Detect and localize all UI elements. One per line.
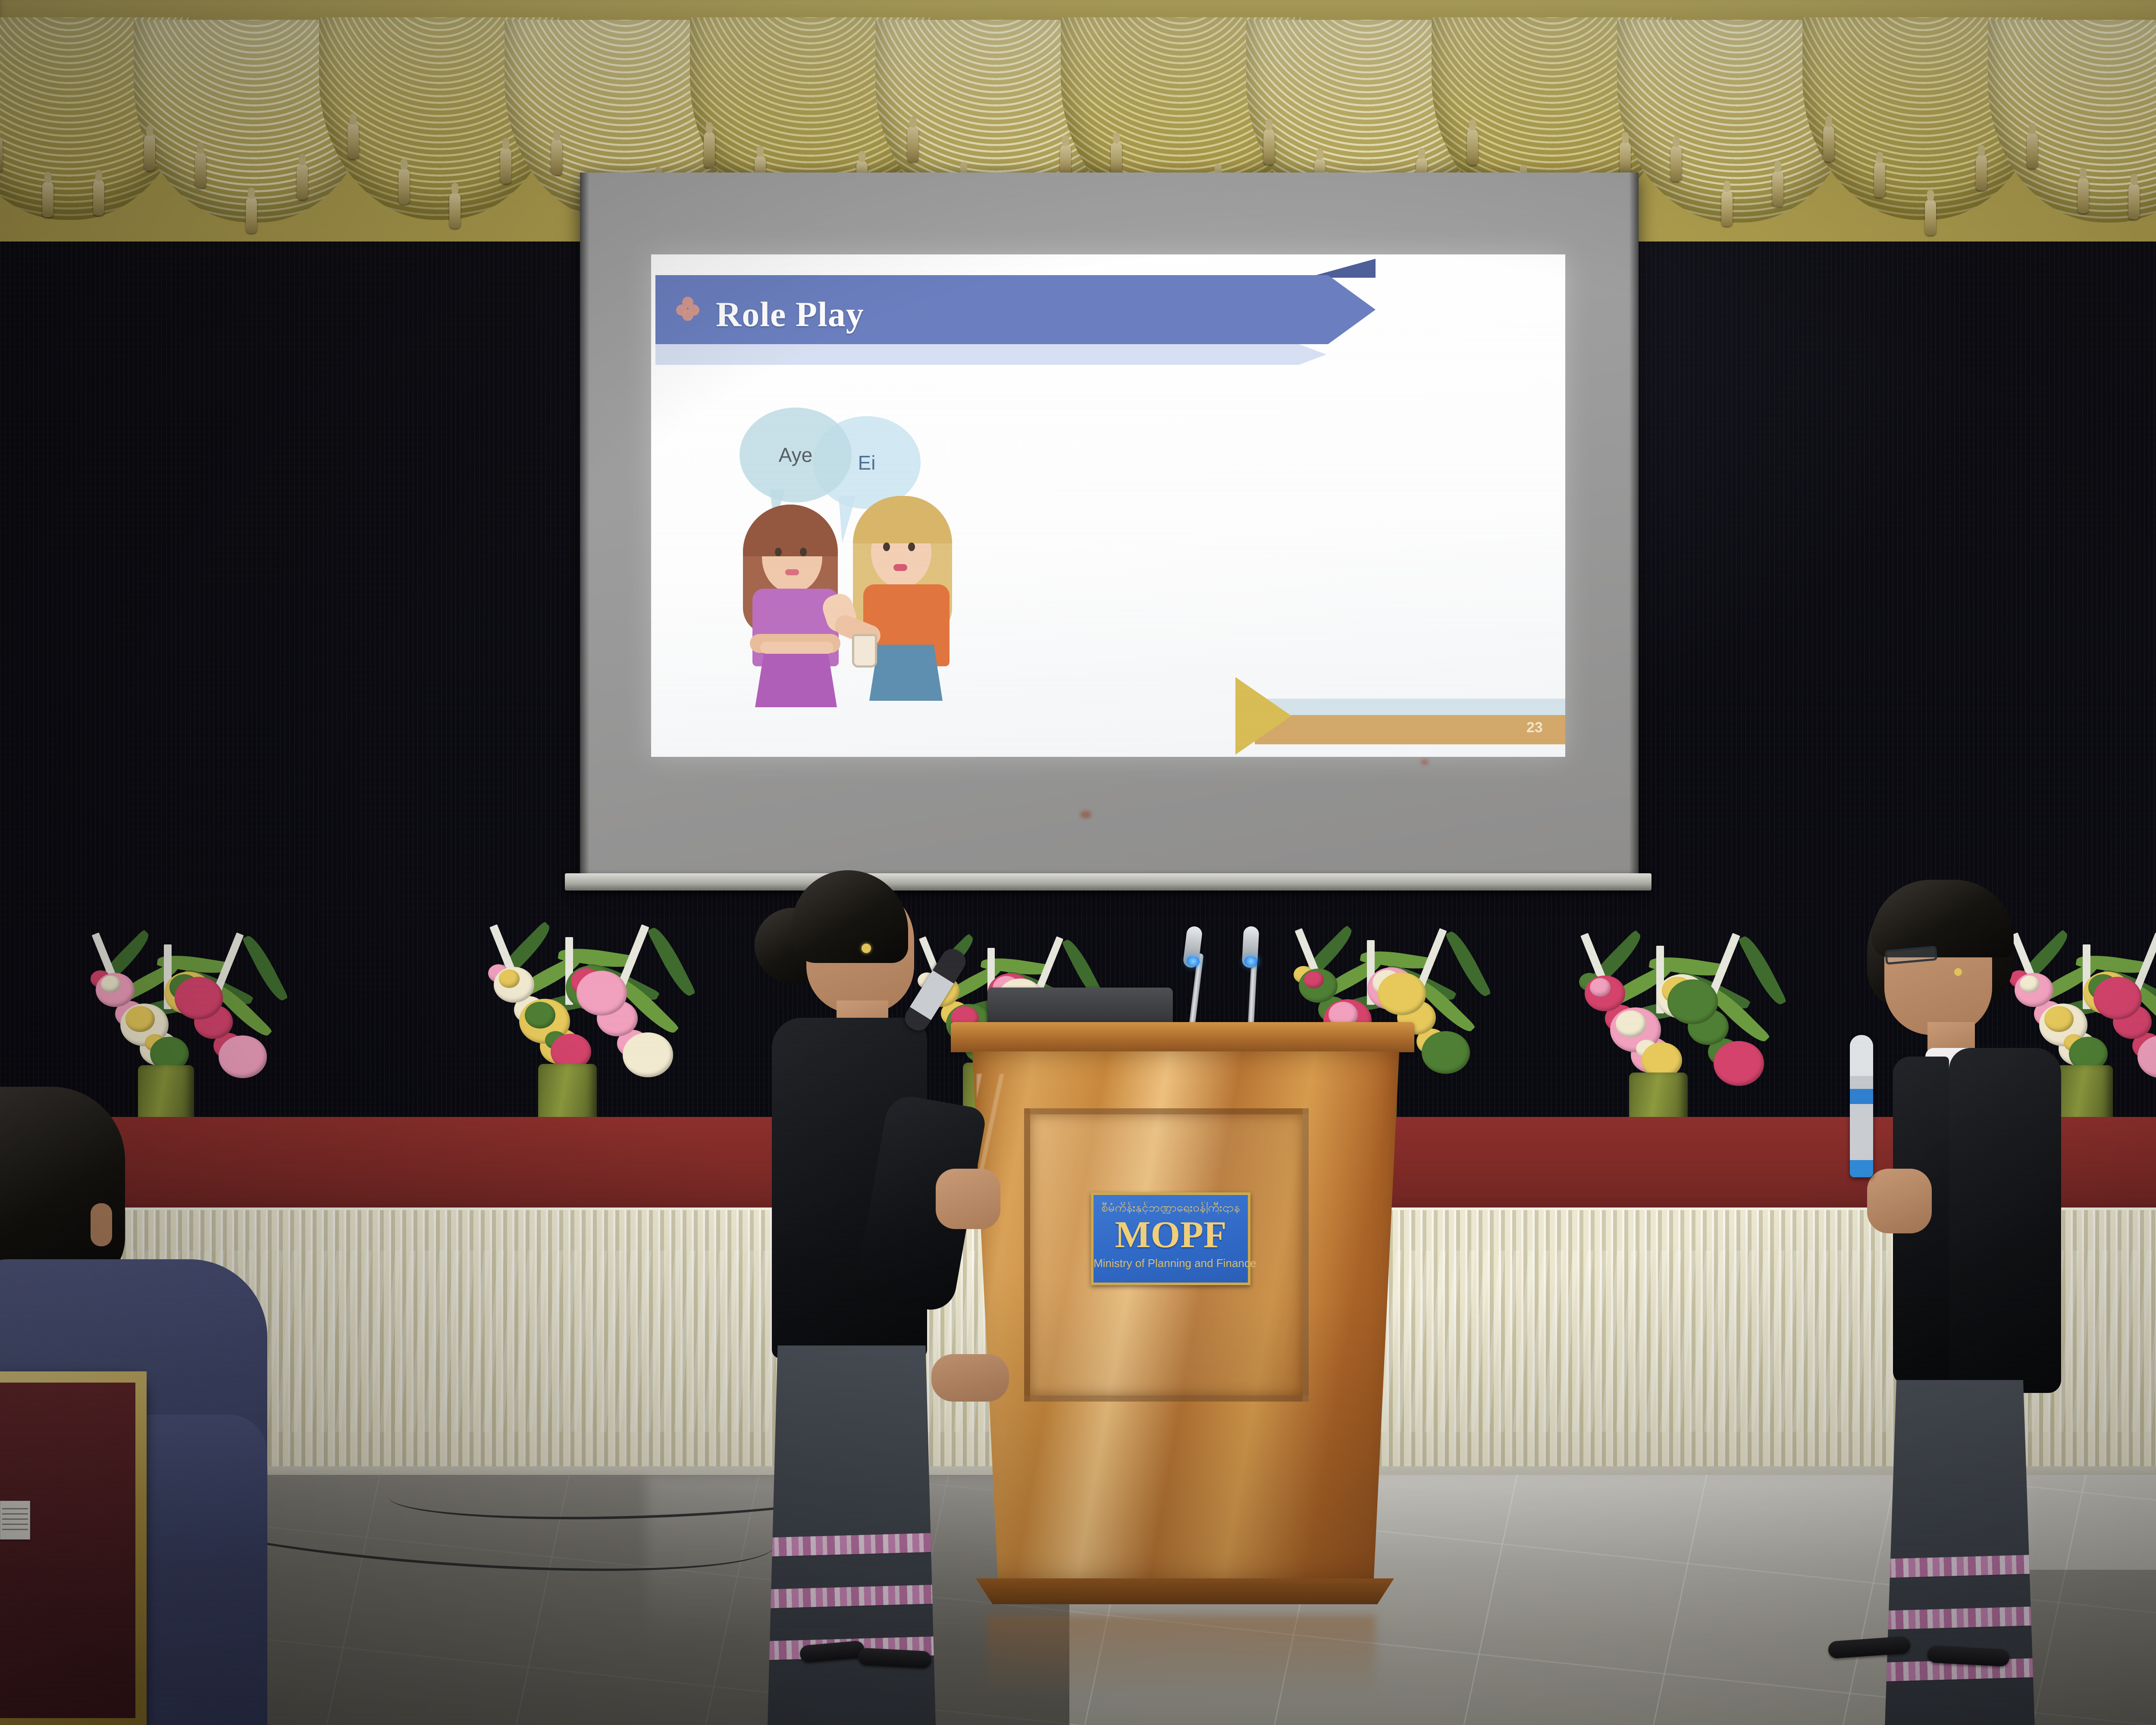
slide-footer-light-bar <box>1263 699 1565 716</box>
flower-icon <box>676 297 700 321</box>
speaker-hand <box>1867 1169 1932 1233</box>
projection-screen: Role Play Ei Aye <box>580 172 1639 884</box>
valance-tassel <box>0 136 3 172</box>
podium-top-surface <box>951 1022 1414 1052</box>
banner-under-strip-tip <box>1299 344 1326 365</box>
valance-tassel <box>2128 183 2140 220</box>
speaker-earring <box>1954 968 1962 976</box>
valance-tassel <box>297 163 308 200</box>
chair-left-paper-tag <box>0 1501 30 1540</box>
chair-left[interactable] <box>0 1371 147 1725</box>
podium-sign-burmese: စီမံကိန်းနှင့်ဘဏ္ဍာရေးဝန်ကြီးဌာန <box>1094 1202 1248 1214</box>
cartoon-woman-right <box>841 496 979 707</box>
banner-arrow-tip <box>1328 275 1376 344</box>
podium-base <box>976 1578 1394 1604</box>
valance-tassel <box>1467 129 1478 165</box>
screen-blemish <box>1080 811 1091 819</box>
speaker-right <box>1841 875 2057 1695</box>
chair-left-back <box>0 1371 147 1725</box>
valance-tassel <box>246 197 257 233</box>
speaker-blazer-right <box>1949 1048 2061 1393</box>
valance-tassel <box>1823 125 1834 162</box>
valance-tassel <box>348 123 359 159</box>
speaker-microphone[interactable] <box>1850 1035 1873 1177</box>
audience-ear <box>91 1203 112 1246</box>
slide-footer-gold-bar <box>1255 715 1565 744</box>
projected-slide: Role Play Ei Aye <box>651 254 1565 757</box>
screen-blemish-2 <box>1421 759 1429 765</box>
valance-tassel <box>449 192 461 229</box>
valance-tassel <box>144 135 155 171</box>
valance-tassel <box>1976 154 1987 191</box>
presenter-longyi <box>768 1345 936 1725</box>
valance-tassel <box>93 179 104 216</box>
slide-next-arrow <box>1235 677 1291 755</box>
banner-under-strip <box>655 344 1299 365</box>
screen-bottom-bar <box>565 873 1651 891</box>
valance-tassel <box>195 152 206 188</box>
valance-tassel <box>1670 145 1682 182</box>
valance-tassel <box>398 168 410 204</box>
valance-tassel <box>551 139 562 175</box>
podium-sign-acronym: MOPF <box>1094 1216 1248 1254</box>
podium-sign-fullname: Ministry of Planning and Finance <box>1094 1257 1248 1270</box>
valance-tassel <box>1263 129 1275 165</box>
presenter-hand <box>936 1169 1000 1229</box>
screen-right-shade <box>1629 172 1639 884</box>
presenter-earring <box>862 944 871 953</box>
screen-left-shade <box>580 172 589 884</box>
speaker-hair-top <box>1871 880 2014 957</box>
speech-bubble-ei-text: Ei <box>858 451 876 474</box>
valance-tassel <box>1874 161 1885 198</box>
slide-title: Role Play <box>716 294 864 335</box>
podium-floor-reflection <box>987 1615 1376 1697</box>
speech-bubble-aye-text: Aye <box>779 443 812 467</box>
valance-tassel <box>500 147 511 184</box>
mic-led-2 <box>1244 956 1257 966</box>
valance-tassel <box>907 126 918 162</box>
slide-page-number: 23 <box>1526 719 1543 736</box>
presenter-hand-lower <box>931 1354 1009 1402</box>
valance-tassel <box>2078 177 2089 213</box>
valance-tassel <box>42 181 53 217</box>
speaker-longyi <box>1884 1380 2035 1725</box>
valance-tassel <box>704 132 715 168</box>
valance-tassel <box>1772 170 1783 207</box>
speech-bubble-aye: Aye <box>740 408 852 502</box>
valance-tassel <box>1721 190 1733 226</box>
wooden-podium[interactable]: စီမံကိန်းနှင့်ဘဏ္ဍာရေးဝန်ကြီးဌာန MOPF Mi… <box>951 1022 1414 1621</box>
valance-tassel <box>1925 199 1936 235</box>
photo-scene: Role Play Ei Aye <box>0 0 2156 1725</box>
podium-name-plate: စီမံကိန်းနှင့်ဘဏ္ဍာရေးဝန်ကြီးဌာန MOPF Mi… <box>1091 1192 1250 1285</box>
presenter-hair <box>792 870 908 963</box>
valance-tassel <box>2027 132 2038 169</box>
